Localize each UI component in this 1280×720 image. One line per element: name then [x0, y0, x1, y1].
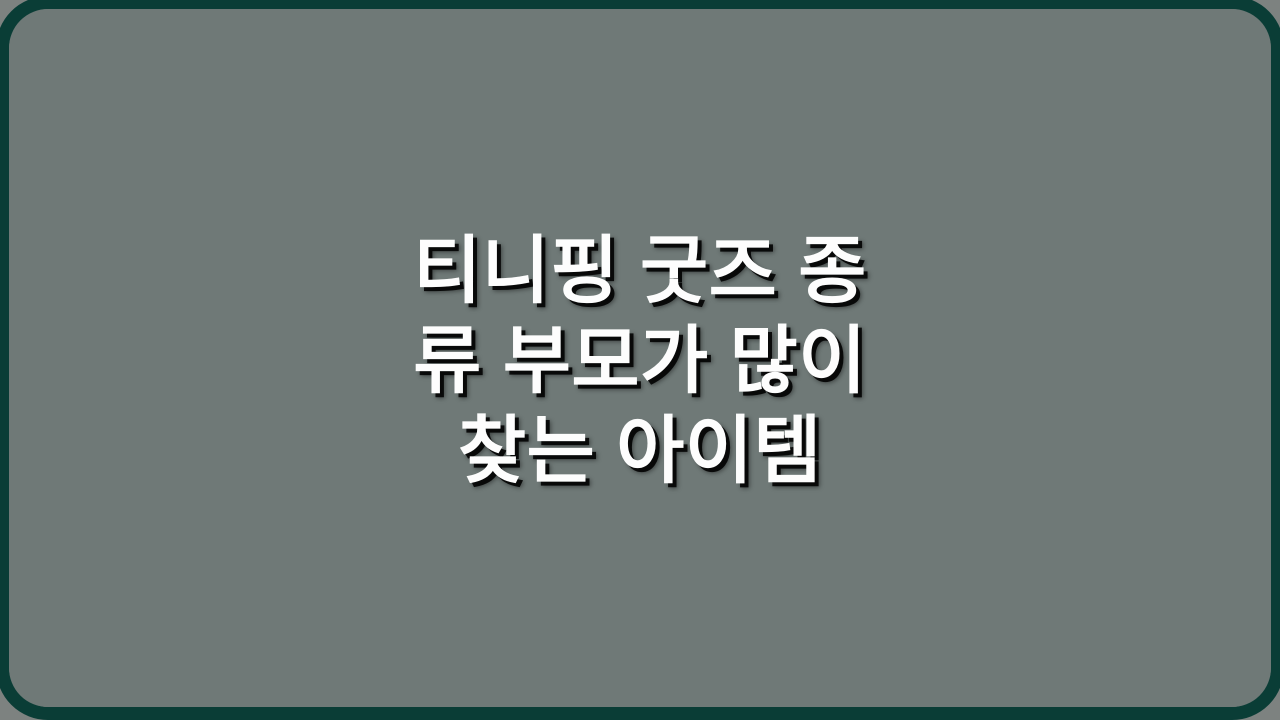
headline-line-1: 티니핑 굿즈 종	[49, 226, 1231, 316]
thumbnail-canvas: 티니핑 굿즈 종 류 부모가 많이 찾는 아이템	[0, 0, 1280, 720]
card-surface: 티니핑 굿즈 종 류 부모가 많이 찾는 아이템	[9, 9, 1271, 707]
headline-line-3: 찾는 아이템	[49, 406, 1231, 496]
headline-line-2: 류 부모가 많이	[49, 316, 1231, 406]
card-frame-border: 티니핑 굿즈 종 류 부모가 많이 찾는 아이템	[0, 0, 1280, 720]
headline-block: 티니핑 굿즈 종 류 부모가 많이 찾는 아이템	[9, 226, 1271, 496]
